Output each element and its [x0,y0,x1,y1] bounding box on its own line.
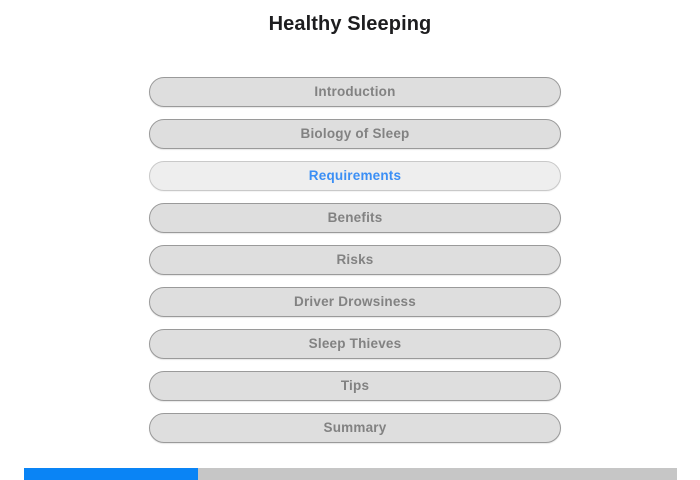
nav-button-introduction[interactable]: Introduction [149,77,561,107]
nav-button-tips[interactable]: Tips [149,371,561,401]
nav-button-label: Benefits [328,210,383,225]
page-title: Healthy Sleeping [0,11,700,37]
progress-bar-fill [24,468,198,480]
nav-button-label: Biology of Sleep [301,126,410,141]
nav-button-label: Risks [336,252,373,267]
nav-button-requirements[interactable]: Requirements [149,161,561,191]
nav-button-label: Summary [324,420,387,435]
nav-button-label: Requirements [309,168,401,183]
nav-button-benefits[interactable]: Benefits [149,203,561,233]
chapter-nav-list: Introduction Biology of Sleep Requiremen… [149,77,561,443]
nav-button-risks[interactable]: Risks [149,245,561,275]
nav-button-label: Driver Drowsiness [294,294,416,309]
nav-button-driver-drowsiness[interactable]: Driver Drowsiness [149,287,561,317]
nav-button-summary[interactable]: Summary [149,413,561,443]
nav-button-label: Sleep Thieves [309,336,402,351]
course-page: Healthy Sleeping Introduction Biology of… [0,0,700,480]
progress-bar-track[interactable] [24,468,677,480]
nav-button-label: Introduction [314,84,395,99]
nav-button-sleep-thieves[interactable]: Sleep Thieves [149,329,561,359]
nav-button-biology-of-sleep[interactable]: Biology of Sleep [149,119,561,149]
nav-button-label: Tips [341,378,369,393]
